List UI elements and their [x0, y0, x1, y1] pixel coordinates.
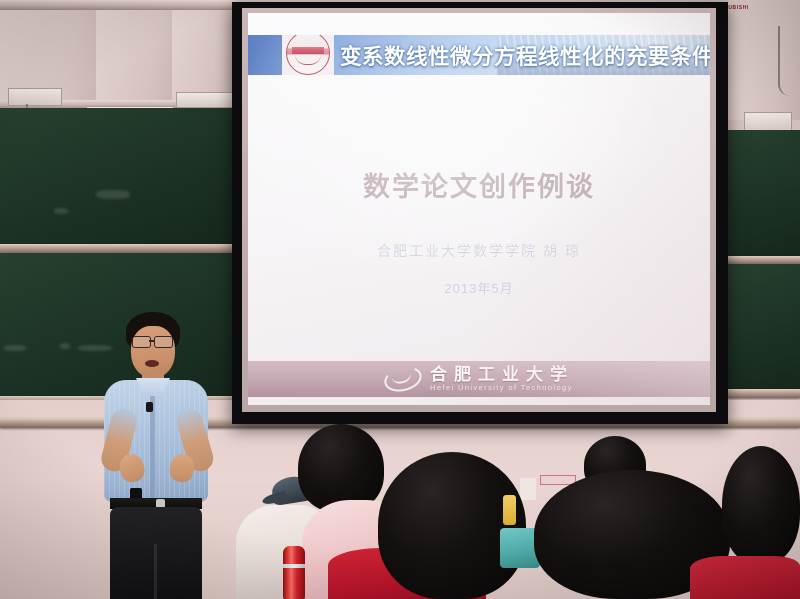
student-head-front-center	[378, 452, 526, 599]
presenter-face	[131, 326, 175, 378]
ceiling-cable	[778, 26, 794, 96]
presenter-glasses-bridge	[149, 340, 154, 342]
blackboard-upper-left	[0, 108, 236, 244]
blackboard-lower-right	[728, 264, 800, 389]
yellow-bottle	[503, 495, 516, 525]
wall-paper-card	[520, 478, 536, 500]
presenter-trouser-seam	[154, 544, 157, 599]
slide-main-title: 数学论文创作例谈	[248, 165, 710, 204]
student-head-pink-shirt	[298, 424, 384, 512]
shelf-device-far-right	[744, 112, 792, 132]
blackboard-upper-right	[728, 130, 800, 256]
projection-screen-border: 变系数线性微分方程线性化的充要条件 数学论文创作例谈 合肥工业大学数学学院 胡 …	[242, 8, 716, 412]
blackboard-rail-upper-left	[0, 244, 236, 253]
presenter-mouth	[145, 360, 159, 367]
wall-top-ledge	[0, 0, 236, 10]
slide-header-banner: 变系数线性微分方程线性化的充要条件	[248, 35, 710, 75]
blackboard-rail-lower-right	[728, 389, 800, 398]
slide-header-title: 变系数线性微分方程线性化的充要条件	[340, 40, 710, 71]
presenter-glasses-right	[154, 336, 173, 348]
slide-footer-texts: 合肥工业大学 Hefei University of Technology	[430, 366, 574, 392]
university-emblem-icon	[282, 35, 334, 75]
slide-subtitle: 合肥工业大学数学学院 胡 琼	[248, 241, 710, 261]
projection-screen-frame: 变系数线性微分方程线性化的充要条件 数学论文创作例谈 合肥工业大学数学学院 胡 …	[232, 2, 728, 424]
student-head-far-right	[722, 446, 800, 564]
presenter-speaker	[88, 312, 228, 599]
presentation-slide: 变系数线性微分方程线性化的充要条件 数学论文创作例谈 合肥工业大学数学学院 胡 …	[248, 13, 710, 405]
shelf-device-right	[176, 92, 234, 108]
student-right-red-body	[690, 556, 800, 599]
blackboard-rail-upper-right	[728, 256, 800, 264]
presenter-glasses-left	[132, 336, 151, 348]
lecture-hall-photo: MITSUBISHI 变系数线性微分方程线性化的充要条件 数学论文创作例谈 合肥…	[0, 0, 800, 599]
slide-footer-name-cn: 合肥工业大学	[430, 366, 574, 384]
hefei-university-logo-icon	[382, 363, 425, 395]
slide-footer-name-en: Hefei University of Technology	[430, 384, 573, 392]
projection-screen-surface: 变系数线性微分方程线性化的充要条件 数学论文创作例谈 合肥工业大学数学学院 胡 …	[248, 13, 710, 405]
presenter-microphone-icon	[146, 402, 153, 412]
red-thermos-flask	[283, 546, 305, 599]
slide-date: 2013年5月	[248, 278, 710, 297]
slide-footer-bar: 合肥工业大学 Hefei University of Technology	[248, 361, 710, 397]
